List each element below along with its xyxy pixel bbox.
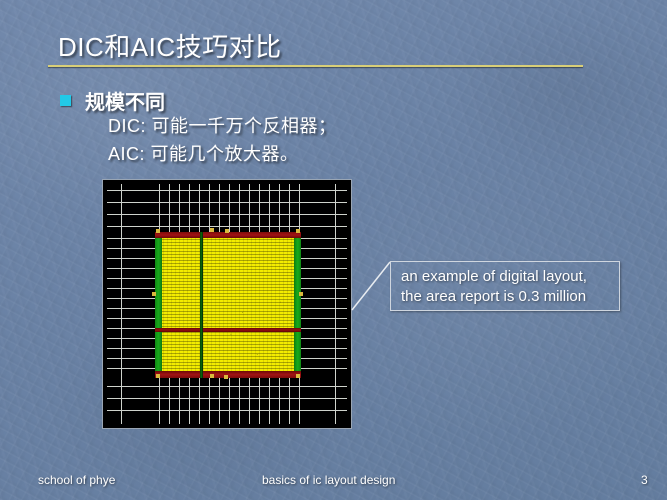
slide-canvas: DIC和AIC技巧对比 规模不同 DIC: 可能一千万个反相器； AIC: 可能… [0,0,667,500]
title-divider-rule [48,65,583,67]
io-band-middle [155,328,301,332]
routing-line-v [279,378,280,424]
routing-line-h [107,308,155,309]
square-bullet-icon [60,95,71,106]
ic-layout-figure [102,179,352,429]
power-rail-left [155,232,162,378]
io-pad [296,374,300,378]
routing-line-v [209,378,210,424]
routing-line-h [301,298,347,299]
routing-line-v [189,378,190,424]
routing-line-v [259,378,260,424]
routing-line-h [301,348,347,349]
routing-line-v [269,378,270,424]
routing-line-h [301,338,347,339]
routing-line-h [107,248,155,249]
routing-line-h [301,288,347,289]
routing-line-h [301,258,347,259]
routing-line-v [249,184,250,232]
callout-line-2: the area report is 0.3 million [401,287,609,307]
io-pad [210,228,214,232]
routing-line-v [249,378,250,424]
bullet-label: 规模不同 [85,86,165,115]
routing-line-v [289,378,290,424]
routing-line-h [107,238,155,239]
routing-line-h [107,278,155,279]
routing-line-v [159,378,160,424]
routing-line-v [269,184,270,232]
routing-line-h [301,238,347,239]
routing-line-v [239,184,240,232]
routing-line-v [279,184,280,232]
routing-line-h [301,248,347,249]
routing-line-h [107,348,155,349]
io-pad [210,374,214,378]
routing-line-h [107,190,347,191]
slide-title: DIC和AIC技巧对比 [58,27,282,64]
io-pad [152,292,156,296]
callout-line-1: an example of digital layout, [401,267,609,287]
io-pad [225,229,229,233]
routing-line-v [169,184,170,232]
routing-line-h [107,268,155,269]
routing-line-h [301,358,347,359]
routing-line-h [107,298,155,299]
routing-line-h [107,358,155,359]
sub-line-aic: AIC: 可能几个放大器。 [108,140,299,166]
io-band-bottom [155,371,301,378]
routing-line-v [289,184,290,232]
routing-line-v [299,378,300,424]
routing-line-h [107,226,347,227]
routing-line-v [189,184,190,232]
routing-line-h [107,410,347,411]
routing-line-h [301,328,347,329]
routing-line-v [335,184,336,424]
footer-center-text: basics of ic layout design [262,473,395,487]
sub-line-dic: DIC: 可能一千万个反相器； [108,112,337,138]
routing-line-h [301,268,347,269]
callout-leader-line [352,262,392,310]
routing-line-h [301,368,347,369]
callout-box: an example of digital layout, the area r… [390,261,620,311]
routing-line-v [199,184,200,232]
footer-page-number: 3 [641,473,648,487]
io-pad [299,292,303,296]
routing-line-h [107,386,347,387]
routing-line-v [159,184,160,232]
routing-line-v [299,184,300,232]
routing-line-h [107,258,155,259]
routing-line-h [107,202,347,203]
io-pad [296,229,300,233]
routing-line-v [121,184,122,424]
io-pad [156,374,160,378]
routing-line-v [199,378,200,424]
power-rail-right [294,232,301,378]
footer-left-text: school of phye [38,473,115,487]
routing-line-h [107,288,155,289]
routing-line-h [301,318,347,319]
routing-line-v [219,184,220,232]
routing-line-v [229,378,230,424]
routing-line-h [107,338,155,339]
io-pad [156,229,160,233]
routing-line-h [107,398,347,399]
routing-line-h [107,214,347,215]
routing-line-v [209,184,210,232]
io-pad [224,375,228,379]
routing-line-v [169,378,170,424]
routing-line-h [107,328,155,329]
routing-line-v [229,184,230,232]
routing-line-h [301,278,347,279]
routing-line-v [179,378,180,424]
routing-line-v [239,378,240,424]
routing-line-h [107,318,155,319]
routing-line-h [107,368,155,369]
bullet-row: 规模不同 [60,86,165,115]
die-core-noise [155,232,301,378]
routing-line-v [259,184,260,232]
vertical-routing-channel [200,232,203,378]
routing-line-v [179,184,180,232]
routing-line-h [301,308,347,309]
routing-line-v [219,378,220,424]
